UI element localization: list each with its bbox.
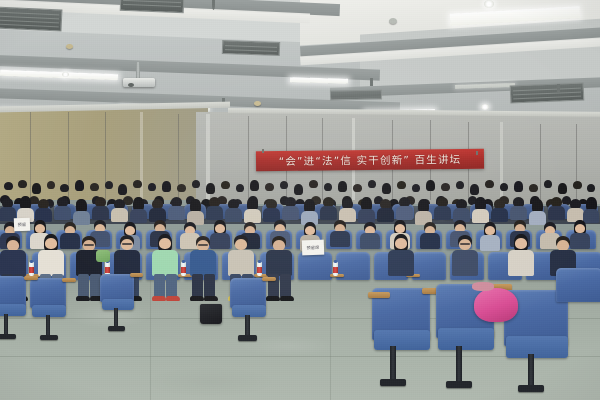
seat-leg bbox=[114, 308, 118, 328]
sprinkler-head-top bbox=[212, 0, 215, 10]
empty-seat-aisle-mid bbox=[230, 278, 350, 342]
seat-armrest bbox=[62, 278, 76, 282]
seat-cushion bbox=[102, 299, 134, 310]
reserved-seat-sign-center: 预留席 bbox=[302, 240, 325, 256]
event-banner: “会”进“法”信 实干创新” 百生讲坛 bbox=[256, 149, 484, 171]
seat-armrest bbox=[130, 273, 143, 277]
glasses-icon bbox=[460, 243, 470, 245]
ac-vent-far-right-panel bbox=[330, 89, 382, 100]
banner-text: “会”进“法”信 实干创新” 百生讲坛 bbox=[279, 152, 462, 169]
auditorium-photo: “会”进“法”信 实干创新” 百生讲坛 bbox=[0, 0, 600, 400]
empty-seat-edge-right bbox=[556, 268, 600, 308]
water-bottle bbox=[333, 262, 338, 276]
ac-vent-right bbox=[510, 82, 585, 103]
seat-backrest bbox=[556, 268, 600, 302]
glasses-icon bbox=[122, 243, 132, 245]
seat-backrest bbox=[30, 278, 66, 308]
smoke-detector-center bbox=[254, 101, 261, 106]
projector bbox=[122, 62, 156, 90]
seat-leg bbox=[4, 314, 8, 336]
reserved-sign-text-center: 预留席 bbox=[306, 244, 319, 250]
ac-vent-mid-center bbox=[222, 40, 280, 56]
downlight-left bbox=[62, 72, 69, 77]
seat-cushion bbox=[506, 336, 568, 358]
seat-cushion bbox=[374, 330, 430, 350]
glasses-icon bbox=[84, 244, 94, 246]
downlight-top-right bbox=[484, 0, 494, 8]
reserved-seat-sign-left: 预留 bbox=[14, 218, 30, 232]
downlight-right-lower bbox=[481, 104, 489, 110]
reserved-sign-text-left: 预留 bbox=[18, 221, 27, 227]
ceiling-light-strip-1 bbox=[0, 70, 118, 81]
green-bag bbox=[96, 250, 110, 262]
glasses-icon bbox=[198, 244, 208, 246]
seat-leg bbox=[46, 315, 50, 337]
seat-foot bbox=[380, 379, 406, 386]
water-bottle bbox=[257, 262, 262, 276]
seat-foot bbox=[518, 385, 544, 392]
seat-foot bbox=[238, 335, 257, 341]
smoke-detector-left bbox=[66, 44, 73, 49]
pink-handbag bbox=[474, 288, 518, 322]
seat-armrest bbox=[262, 277, 276, 281]
projector-lens bbox=[128, 83, 134, 87]
ceiling-light-strip-2 bbox=[290, 77, 348, 84]
pink-handbag-strap bbox=[472, 282, 494, 291]
seat-foot bbox=[446, 381, 472, 388]
seat-leg bbox=[528, 354, 534, 388]
banner-tie-left bbox=[262, 149, 264, 153]
smoke-detector-right bbox=[389, 18, 397, 24]
seat-leg bbox=[456, 346, 462, 384]
seat-leg bbox=[245, 315, 250, 337]
seat-backrest bbox=[100, 274, 134, 302]
seat-backrest bbox=[230, 278, 266, 308]
seat-foot bbox=[108, 326, 125, 331]
water-bottle bbox=[29, 262, 34, 276]
seat-leg bbox=[390, 346, 396, 382]
banner-tie-right bbox=[476, 151, 478, 155]
ac-vent-top-left bbox=[0, 6, 62, 31]
projector-pole bbox=[136, 62, 140, 79]
seat-foot bbox=[0, 334, 16, 339]
sprinkler-head-far-right bbox=[557, 84, 560, 92]
seat-armrest bbox=[24, 276, 38, 280]
empty-seat-cluster-center-left bbox=[100, 274, 220, 340]
seat-cushion bbox=[438, 328, 494, 350]
seat-armrest bbox=[368, 292, 390, 298]
sprinkler-head-right bbox=[370, 78, 373, 86]
seat-foot bbox=[40, 335, 58, 340]
